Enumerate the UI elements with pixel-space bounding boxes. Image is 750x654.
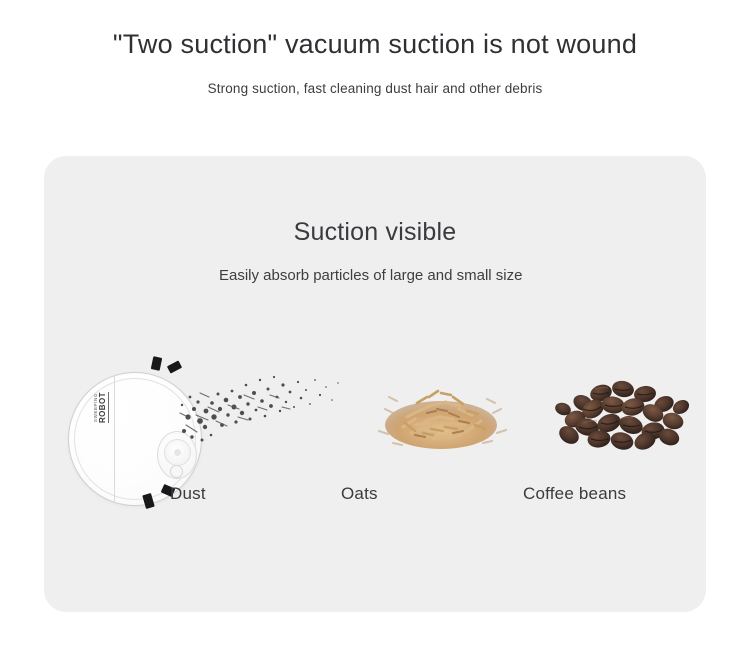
item-dust <box>170 347 370 467</box>
header: "Two suction" vacuum suction is not woun… <box>0 0 750 96</box>
oats-art <box>341 347 541 467</box>
item-label-dust: Dust <box>170 484 206 504</box>
item-label-coffee-beans: Coffee beans <box>523 484 626 504</box>
coffee-beans-art <box>523 347 723 467</box>
oats-pile-icon <box>341 347 541 467</box>
card-body-text: Easily absorb particles of large and sma… <box>219 266 549 286</box>
suction-demo-card: Suction visible Easily absorb particles … <box>44 156 706 612</box>
items-row: Dust Oats Coffee beans <box>44 341 706 541</box>
dust-particles-icon <box>170 347 370 467</box>
item-coffee-beans <box>523 347 723 467</box>
item-label-oats: Oats <box>341 484 378 504</box>
item-oats <box>341 347 541 467</box>
page-title: "Two suction" vacuum suction is not woun… <box>0 0 750 62</box>
card-heading: Suction visible <box>44 218 706 247</box>
page-subtitle: Strong suction, fast cleaning dust hair … <box>0 62 750 96</box>
coffee-beans-pile-icon <box>523 347 723 467</box>
dust-art <box>170 347 370 467</box>
